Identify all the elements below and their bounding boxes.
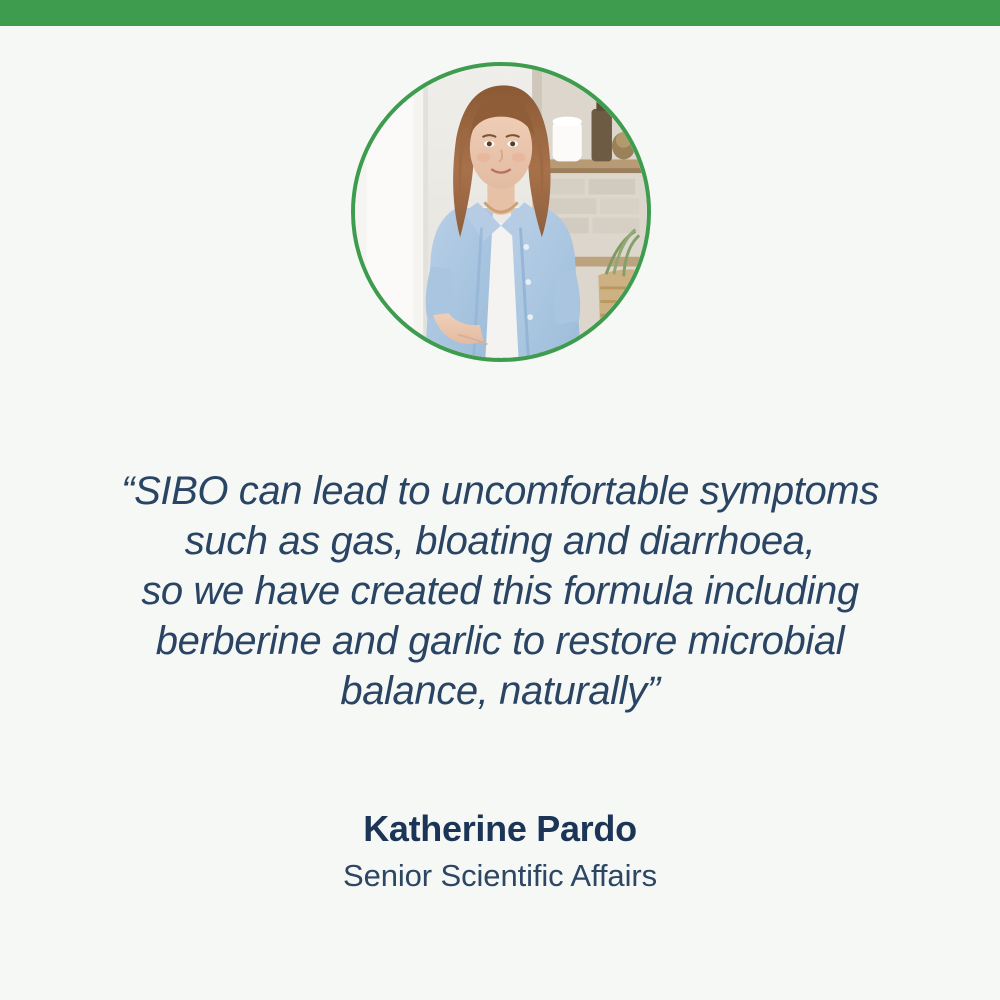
avatar-ring xyxy=(351,62,651,362)
green-accent-bar xyxy=(0,0,1000,26)
author-name: Katherine Pardo xyxy=(0,806,1000,852)
quote-line: so we have created this formula includin… xyxy=(0,566,1000,616)
avatar xyxy=(351,62,651,362)
author-role: Senior Scientific Affairs xyxy=(0,856,1000,896)
quote-line: berberine and garlic to restore microbia… xyxy=(0,616,1000,666)
attribution: Katherine Pardo Senior Scientific Affair… xyxy=(0,806,1000,896)
avatar-photo xyxy=(355,66,647,358)
quote-line: such as gas, bloating and diarrhoea, xyxy=(0,516,1000,566)
quote-line: “SIBO can lead to uncomfortable symptoms xyxy=(0,466,1000,516)
quote-line: balance, naturally” xyxy=(0,666,1000,716)
testimonial-card: “SIBO can lead to uncomfortable symptoms… xyxy=(0,26,1000,1000)
testimonial-quote: “SIBO can lead to uncomfortable symptoms… xyxy=(0,466,1000,716)
